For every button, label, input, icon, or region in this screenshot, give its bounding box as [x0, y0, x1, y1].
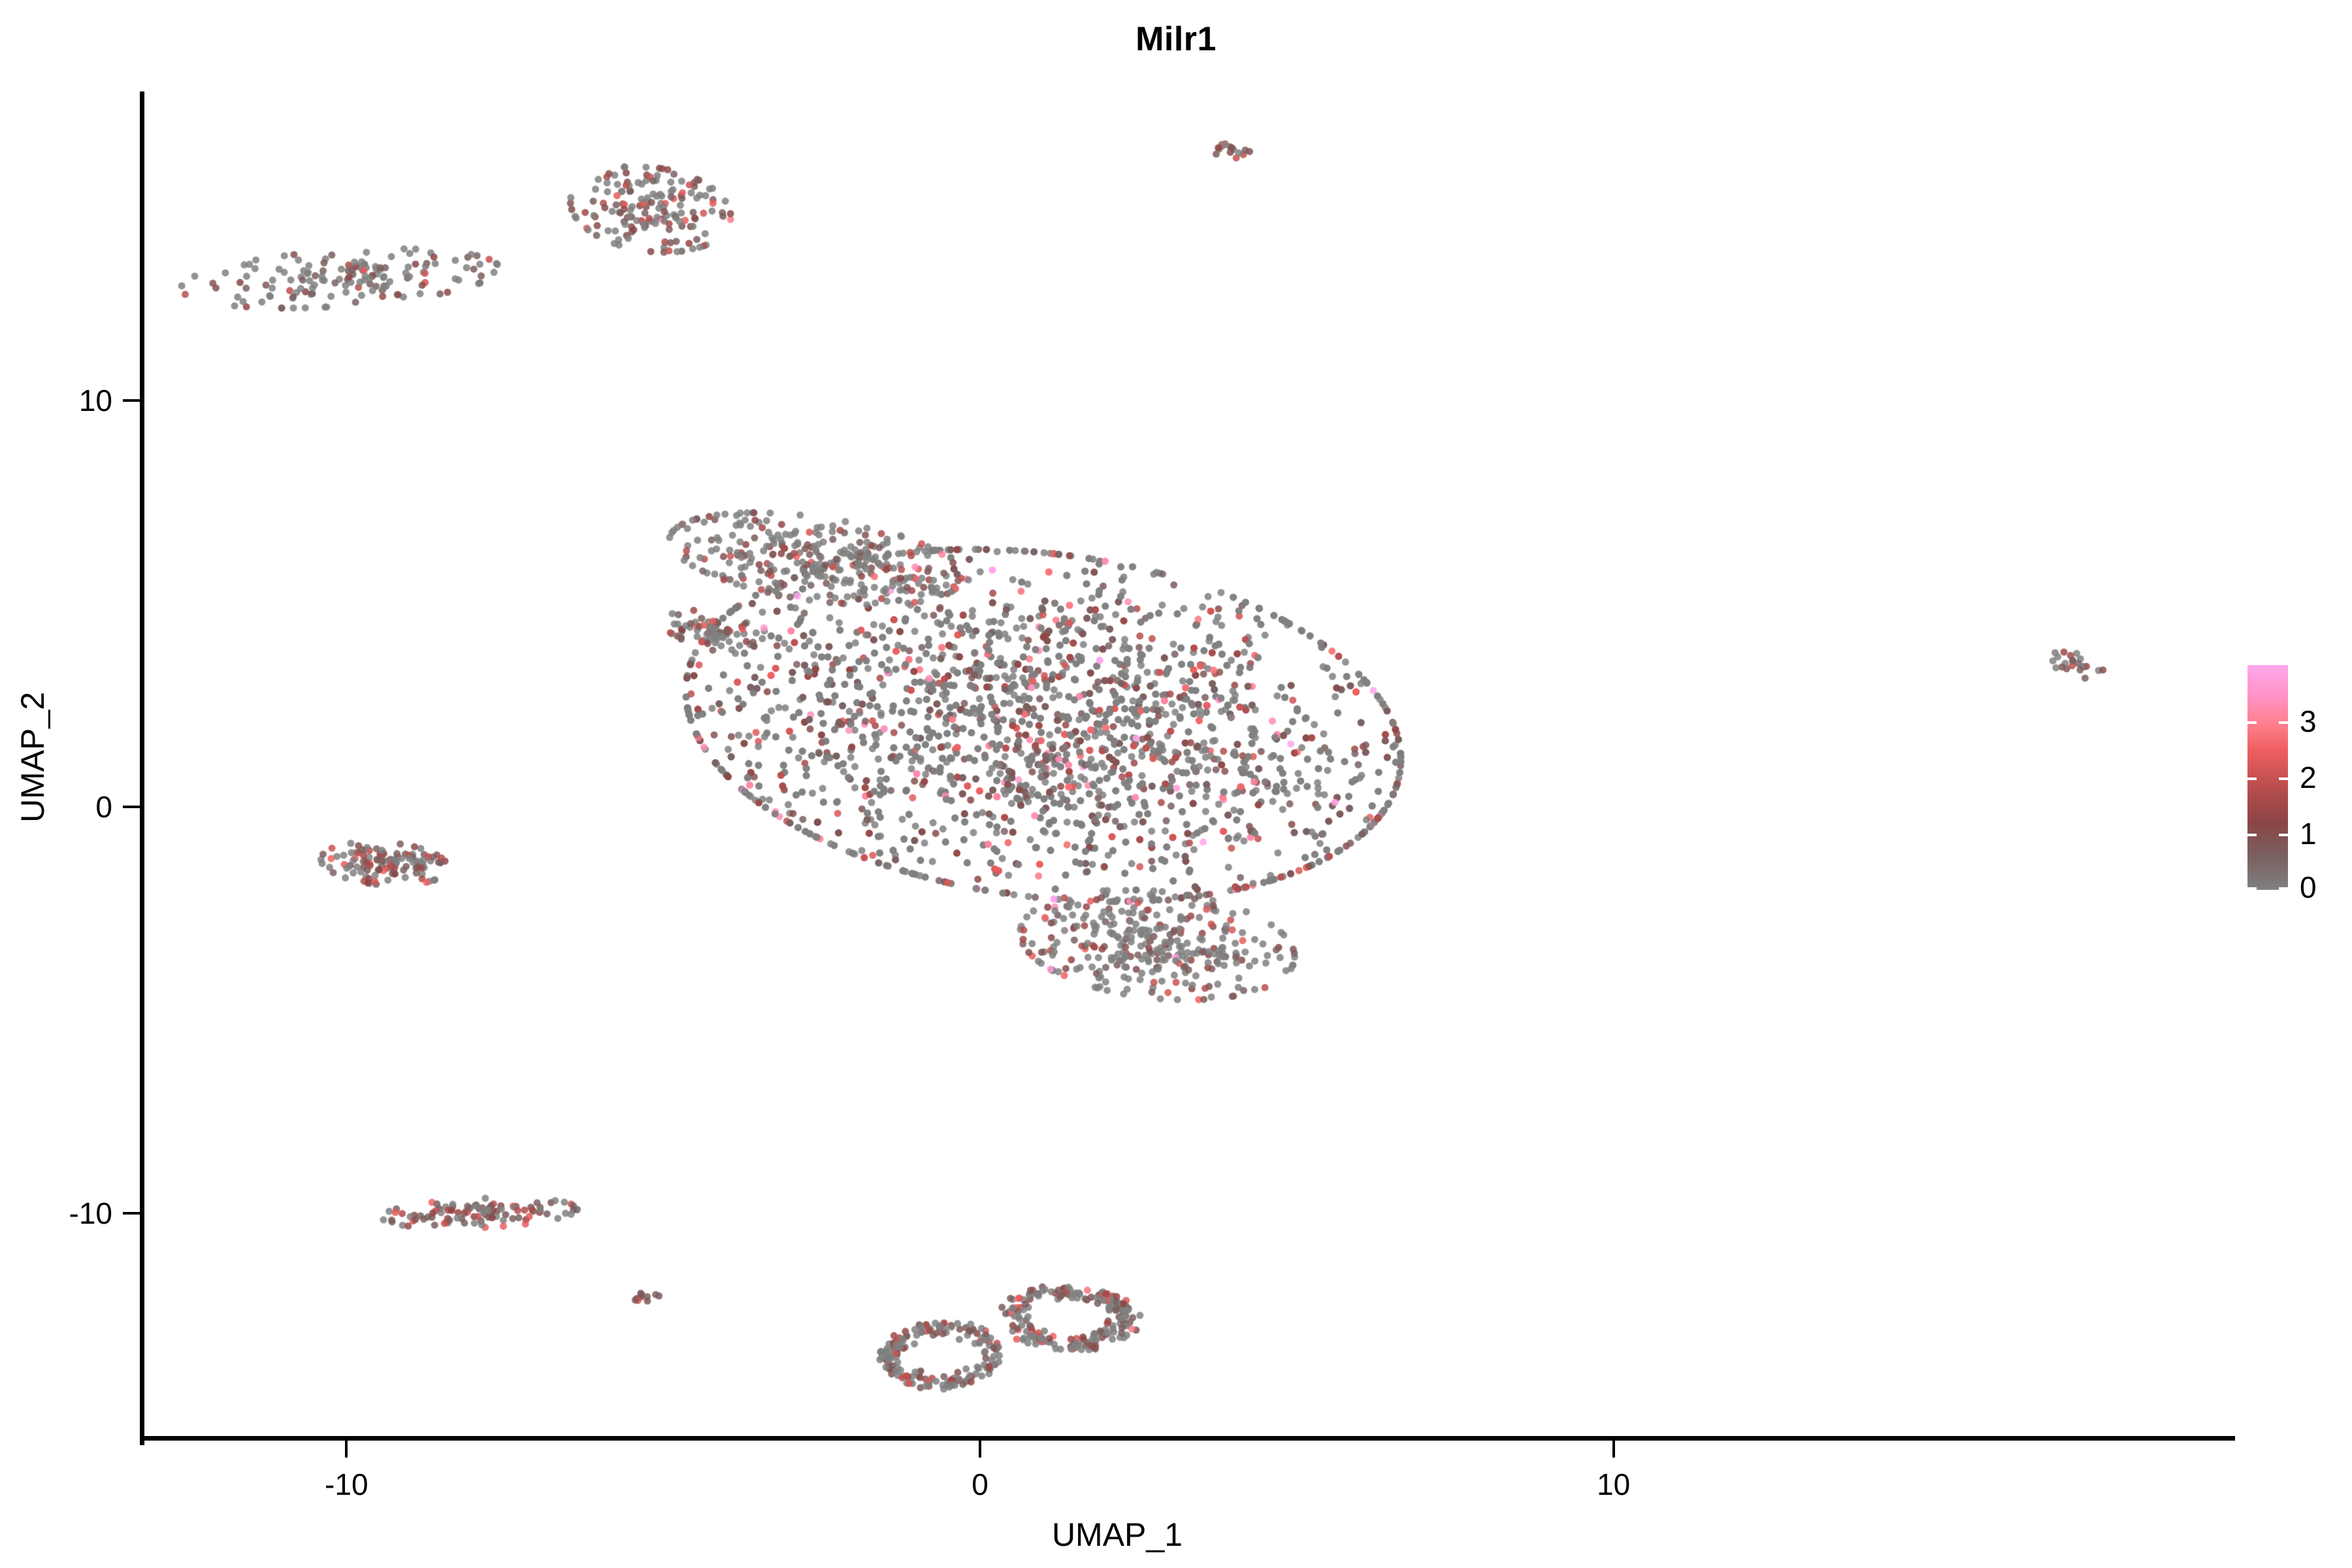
colorbar-tick-0-left: [2247, 887, 2257, 890]
y-tick-mark: [123, 399, 140, 402]
colorbar-tick-1-left: [2247, 834, 2257, 836]
colorbar-tick-1-right: [2279, 834, 2288, 836]
plot-panel: [144, 91, 2234, 1441]
legend-label-3: 3: [2300, 704, 2317, 739]
y-tick-mark: [123, 806, 140, 808]
colorbar-tick-2-right: [2279, 777, 2288, 780]
legend-label-0: 0: [2300, 870, 2317, 905]
scatter-points-layer: [144, 91, 2234, 1441]
x-tick-label: 10: [1597, 1467, 1630, 1502]
colorbar-tick-2-left: [2247, 777, 2257, 780]
y-axis-label: UMAP_2: [14, 529, 52, 986]
x-tick-mark: [979, 1441, 981, 1458]
x-tick-label: -10: [325, 1467, 368, 1502]
x-tick-mark: [1612, 1441, 1615, 1458]
colorbar-tick-3-left: [2247, 721, 2257, 724]
x-tick-mark: [345, 1441, 348, 1458]
y-axis-line: [140, 91, 144, 1445]
colorbar-tick-0-right: [2279, 887, 2288, 890]
y-tick-label: 10: [0, 383, 112, 418]
legend-label-1: 1: [2300, 816, 2317, 851]
colorbar-tick-3-right: [2279, 721, 2288, 724]
page-title: Milr1: [0, 20, 2352, 59]
umap-feature-plot: Milr1 -10010-10010 UMAP_1 UMAP_2 3 2 1 0: [0, 0, 2352, 1568]
x-tick-label: 0: [972, 1467, 988, 1502]
color-legend: 3 2 1 0: [2247, 665, 2345, 900]
x-axis-label: UMAP_1: [0, 1516, 2234, 1554]
x-axis-line: [140, 1436, 2235, 1441]
y-tick-mark: [123, 1212, 140, 1215]
legend-label-2: 2: [2300, 760, 2317, 795]
colorbar-gradient: [2247, 665, 2288, 890]
y-tick-label: -10: [0, 1196, 112, 1231]
